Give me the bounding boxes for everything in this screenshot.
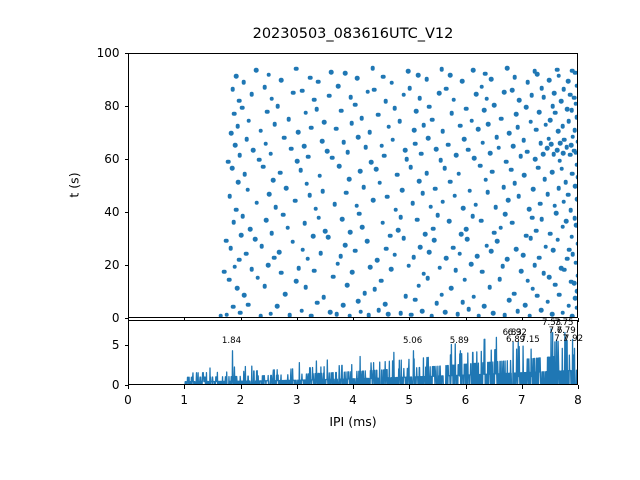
scatter-point (480, 270, 485, 275)
scatter-point (463, 277, 468, 282)
scatter-point (373, 287, 378, 292)
scatter-point (343, 71, 348, 76)
scatter-point (489, 77, 494, 82)
scatter-point (469, 118, 474, 123)
scatter-point (298, 168, 303, 173)
scatter-point (486, 122, 491, 127)
scatter-point (526, 80, 531, 85)
scatter-point (350, 270, 355, 275)
scatter-point (286, 117, 291, 122)
scatter-point (576, 241, 577, 246)
histogram-x-tick (578, 385, 579, 389)
scatter-point (391, 138, 396, 143)
scatter-point (546, 136, 551, 141)
scatter-point (258, 314, 263, 317)
scatter-point (472, 294, 477, 299)
scatter-point (259, 244, 264, 249)
scatter-point (416, 73, 421, 78)
scatter-point (556, 73, 561, 78)
scatter-point (540, 86, 545, 91)
scatter-point (574, 162, 577, 167)
scatter-point (387, 124, 392, 129)
scatter-point (397, 119, 402, 124)
scatter-point (442, 166, 447, 171)
scatter-point (471, 68, 476, 73)
scatter-point (264, 218, 269, 223)
scatter-point (232, 112, 237, 117)
scatter-point (448, 179, 453, 184)
scatter-point (229, 131, 234, 136)
histogram-peak-label: 5.06 (403, 336, 422, 346)
scatter-point (496, 146, 501, 151)
scatter-point (430, 117, 435, 122)
histogram-x-tick (522, 385, 523, 389)
scatter-point (428, 204, 433, 209)
scatter-point (537, 110, 542, 115)
scatter-point (304, 181, 309, 186)
scatter-point (268, 311, 273, 316)
scatter-point (383, 302, 388, 307)
scatter-point (254, 200, 259, 205)
scatter-point (576, 175, 577, 180)
scatter-point (418, 96, 423, 101)
scatter-point (505, 257, 510, 262)
scatter-point (556, 186, 561, 191)
scatter-point (242, 293, 247, 298)
scatter-point (367, 130, 372, 135)
scatter-point (421, 123, 426, 128)
scatter-point (564, 219, 569, 224)
scatter-point (421, 271, 426, 276)
scatter-point (224, 238, 229, 243)
scatter-point (441, 200, 446, 205)
scatter-point (571, 134, 576, 139)
scatter-point (393, 207, 398, 212)
scatter-point (452, 193, 457, 198)
scatter-point (333, 202, 338, 207)
scatter-point (283, 292, 288, 297)
scatter-point (439, 67, 444, 72)
scatter-point (473, 202, 478, 207)
scatter-point (562, 137, 567, 142)
scatter-point (227, 277, 232, 282)
scatter-point (379, 143, 384, 148)
scatter-point (395, 172, 400, 177)
histogram-peak-label: 7.15 (521, 335, 540, 345)
scatter-point (486, 190, 491, 195)
scatter-point (541, 95, 546, 100)
scatter-point (472, 156, 477, 161)
scatter-point (261, 165, 266, 170)
scatter-point (229, 246, 234, 251)
scatter-y-tick (125, 53, 129, 54)
scatter-point (265, 109, 270, 114)
scatter-point (312, 268, 317, 273)
scatter-point (565, 107, 570, 112)
scatter-point (307, 193, 312, 198)
scatter-point (364, 145, 369, 150)
scatter-point (249, 92, 254, 97)
scatter-point (218, 314, 223, 317)
scatter-point (524, 233, 529, 238)
scatter-point (502, 90, 507, 95)
scatter-point (330, 156, 335, 161)
scatter-point (320, 139, 325, 144)
scatter-point (381, 74, 386, 79)
scatter-point (438, 158, 443, 163)
scatter-point (366, 313, 371, 317)
scatter-point (563, 180, 568, 185)
scatter-point (426, 136, 431, 141)
scatter-point (291, 90, 296, 95)
x-axis-label: IPI (ms) (329, 414, 376, 429)
scatter-point (361, 185, 366, 190)
scatter-point (560, 224, 565, 229)
scatter-point (561, 151, 566, 156)
scatter-point (479, 85, 484, 90)
scatter-point (568, 92, 573, 97)
scatter-point (306, 155, 311, 160)
histogram-x-tick (409, 385, 410, 389)
scatter-point (460, 79, 465, 84)
scatter-point (437, 265, 442, 270)
scatter-y-ticklabel: 100 (80, 46, 120, 60)
histogram-peak-label: 5.89 (450, 336, 469, 346)
scatter-point (450, 111, 455, 116)
scatter-point (517, 194, 522, 199)
scatter-point (290, 240, 295, 245)
histogram-x-tick (184, 385, 185, 389)
scatter-point (410, 201, 415, 206)
scatter-point (254, 68, 259, 73)
scatter-point (566, 79, 571, 84)
scatter-point (436, 213, 441, 218)
scatter-point (337, 164, 342, 169)
scatter-point (513, 181, 518, 186)
scatter-point (251, 148, 256, 153)
scatter-point (313, 206, 318, 211)
scatter-point (519, 269, 524, 274)
scatter-point (409, 312, 414, 317)
scatter-point (551, 248, 556, 253)
scatter-point (533, 157, 538, 162)
scatter-point (368, 265, 373, 270)
scatter-point (232, 264, 237, 269)
scatter-point (239, 233, 244, 238)
scatter-point (328, 310, 333, 315)
scatter-point (300, 88, 305, 93)
scatter-point (237, 257, 242, 262)
scatter-point (514, 247, 519, 252)
scatter-point (483, 178, 488, 183)
scatter-point (243, 172, 248, 177)
scatter-point (523, 303, 528, 308)
scatter-point (234, 208, 239, 213)
scatter-point (331, 275, 336, 280)
scatter-point (469, 262, 474, 267)
scatter-y-tick (125, 265, 129, 266)
scatter-point (461, 206, 466, 211)
scatter-point (573, 102, 577, 107)
scatter-point (559, 166, 564, 171)
scatter-point (272, 255, 277, 260)
scatter-point (309, 125, 314, 130)
scatter-point (454, 153, 459, 158)
scatter-point (458, 124, 463, 129)
scatter-point (476, 127, 481, 132)
scatter-point (479, 218, 484, 223)
scatter-point (449, 286, 454, 291)
scatter-point (319, 251, 324, 256)
scatter-point (327, 94, 332, 99)
scatter-point (417, 179, 422, 184)
scatter-point (266, 72, 271, 77)
scatter-point (433, 187, 438, 192)
scatter-point (281, 212, 286, 217)
scatter-point (501, 185, 506, 190)
scatter-point (568, 208, 573, 213)
scatter-point (356, 135, 361, 140)
scatter-point (238, 153, 243, 158)
scatter-point (253, 237, 258, 242)
scatter-point (574, 223, 577, 228)
scatter-y-ticklabel: 80 (80, 99, 120, 113)
scatter-point (401, 236, 406, 241)
scatter-point (248, 227, 253, 232)
scatter-point (572, 95, 577, 100)
scatter-point (484, 244, 489, 249)
scatter-point (416, 284, 421, 289)
scatter-point (565, 256, 570, 261)
scatter-point (282, 135, 287, 140)
scatter-point (431, 226, 436, 231)
scatter-point (413, 142, 418, 147)
scatter-point (369, 160, 374, 165)
scatter-point (415, 217, 420, 222)
scatter-point (244, 137, 249, 142)
scatter-point (236, 180, 241, 185)
scatter-point (567, 303, 572, 308)
scatter-point (270, 96, 275, 101)
scatter-point (574, 306, 577, 311)
scatter-point (482, 304, 487, 309)
scatter-point (353, 249, 358, 254)
scatter-point (497, 277, 502, 282)
scatter-point (293, 199, 298, 204)
scatter-point (568, 152, 573, 157)
histogram-x-ticklabel: 4 (333, 393, 373, 407)
scatter-point (451, 245, 456, 250)
scatter-point (470, 214, 475, 219)
scatter-point (424, 77, 429, 82)
scatter-point (477, 313, 482, 317)
scatter-point (420, 309, 425, 314)
scatter-point (462, 137, 467, 142)
scatter-point (518, 154, 523, 159)
scatter-point (536, 165, 541, 170)
scatter-point (317, 173, 322, 178)
scatter-point (249, 267, 254, 272)
scatter-point (370, 66, 375, 71)
histogram-x-tick (466, 385, 467, 389)
matplotlib-figure: 20230503_083616UTC_V12 020406080100 t (s… (0, 0, 640, 480)
scatter-point (296, 130, 301, 135)
scatter-point (315, 107, 320, 112)
scatter-point (267, 192, 272, 197)
scatter-point (572, 148, 577, 153)
scatter-point (567, 119, 572, 124)
scatter-point (245, 187, 250, 192)
scatter-point (457, 251, 462, 256)
scatter-point (325, 149, 330, 154)
scatter-point (547, 78, 552, 83)
scatter-point (403, 294, 408, 299)
scatter-point (262, 85, 267, 90)
scatter-point (316, 215, 321, 220)
scatter-point (225, 312, 230, 317)
scatter-point (226, 159, 231, 164)
scatter-point (240, 214, 245, 219)
scatter-point (504, 160, 509, 165)
scatter-point (503, 212, 508, 217)
scatter-point (411, 255, 416, 260)
scatter-point (560, 124, 565, 129)
scatter-point (355, 203, 360, 208)
scatter-point (429, 314, 434, 317)
scatter-point (278, 170, 283, 175)
scatter-point (570, 171, 575, 176)
scatter-point (572, 216, 577, 221)
scatter-point (284, 186, 289, 191)
scatter-point (527, 314, 532, 317)
scatter-point (483, 71, 488, 76)
scatter-point (492, 103, 497, 108)
scatter-point (562, 199, 567, 204)
scatter-points-layer (129, 54, 577, 317)
scatter-point (407, 86, 412, 91)
scatter-point (403, 148, 408, 153)
scatter-point (506, 198, 511, 203)
scatter-point (481, 140, 486, 145)
scatter-point (544, 122, 549, 127)
scatter-point (302, 221, 307, 226)
scatter-point (537, 255, 542, 260)
scatter-point (553, 283, 558, 288)
scatter-point (549, 142, 554, 147)
scatter-point (231, 220, 236, 225)
scatter-point (554, 211, 559, 216)
scatter-point (547, 275, 552, 280)
scatter-point (230, 166, 235, 171)
scatter-point (448, 73, 453, 78)
scatter-point (329, 70, 334, 75)
scatter-point (360, 116, 365, 121)
scatter-point (266, 263, 271, 268)
scatter-point (553, 204, 558, 209)
scatter-point (556, 129, 561, 134)
scatter-point (459, 232, 464, 237)
scatter-point (382, 153, 387, 158)
scatter-point (372, 87, 377, 92)
scatter-point (275, 104, 280, 109)
scatter-point (323, 229, 328, 234)
scatter-point (376, 112, 381, 117)
scatter-point (575, 83, 577, 88)
scatter-point (509, 167, 514, 172)
scatter-point (443, 310, 448, 315)
scatter-point (555, 237, 560, 242)
scatter-point (392, 252, 397, 257)
scatter-point (552, 91, 557, 96)
scatter-point (299, 308, 304, 313)
scatter-point (447, 219, 452, 224)
scatter-point (247, 118, 252, 123)
scatter-point (492, 230, 497, 235)
scatter-point (569, 234, 574, 239)
scatter-point (277, 250, 282, 255)
scatter-point (571, 252, 576, 257)
scatter-point (398, 311, 403, 316)
scatter-point (559, 99, 564, 104)
scatter-point (339, 108, 344, 113)
scatter-point (521, 253, 526, 258)
scatter-point (396, 228, 401, 233)
scatter-point (530, 215, 535, 220)
scatter-plot-axes (128, 53, 578, 318)
scatter-point (550, 104, 555, 109)
scatter-point (423, 232, 428, 237)
scatter-point (334, 312, 339, 317)
scatter-point (515, 309, 520, 314)
histogram-x-ticklabel: 3 (277, 393, 317, 407)
scatter-point (412, 128, 417, 133)
scatter-point (455, 312, 460, 317)
y-axis-label: t (s) (67, 172, 82, 197)
scatter-point (507, 298, 512, 303)
scatter-point (308, 75, 313, 80)
scatter-point (567, 248, 572, 253)
scatter-point (303, 285, 308, 290)
scatter-point (338, 254, 343, 259)
scatter-point (334, 126, 339, 131)
histogram-x-tick (297, 385, 298, 389)
scatter-point (437, 91, 442, 96)
scatter-point (234, 74, 239, 79)
scatter-point (335, 262, 340, 267)
scatter-point (385, 195, 390, 200)
scatter-point (545, 146, 550, 151)
scatter-point (389, 80, 394, 85)
scatter-point (424, 171, 429, 176)
scatter-point (573, 184, 577, 189)
scatter-point (413, 297, 418, 302)
scatter-point (425, 276, 430, 281)
scatter-point (468, 188, 473, 193)
scatter-point (491, 311, 496, 316)
scatter-y-ticklabel: 40 (80, 205, 120, 219)
scatter-point (240, 105, 245, 110)
scatter-point (279, 78, 284, 83)
scatter-point (493, 205, 498, 210)
scatter-point (392, 106, 397, 111)
scatter-point (482, 108, 487, 113)
scatter-point (545, 299, 550, 304)
scatter-point (524, 105, 529, 110)
scatter-point (288, 313, 293, 317)
scatter-point (490, 169, 495, 174)
scatter-point (365, 90, 370, 95)
scatter-point (295, 159, 300, 164)
